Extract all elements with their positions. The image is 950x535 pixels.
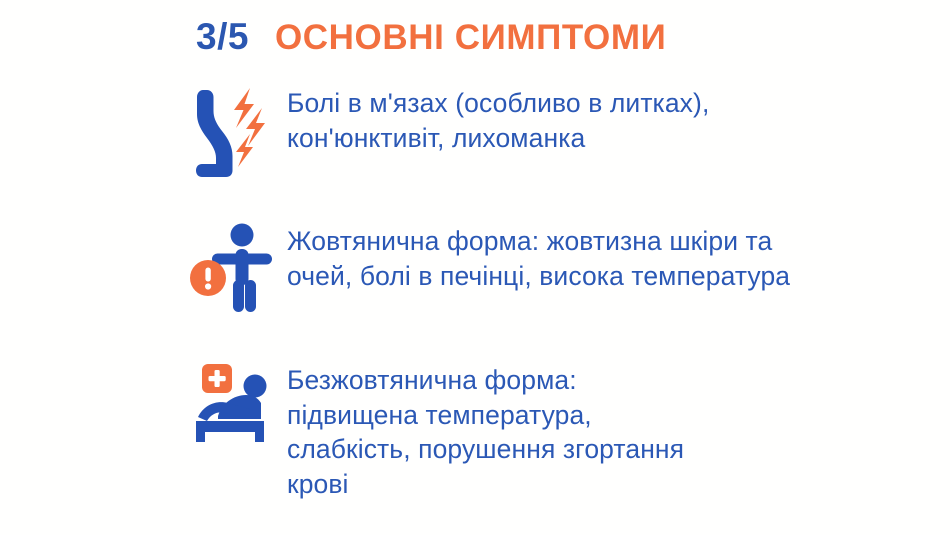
symptom-item: Безжовтянична форма: підвищена температу… — [0, 359, 950, 502]
header: 3/5 ОСНОВНІ СИМПТОМИ — [196, 18, 666, 55]
symptom-item: Болі в м'язах (особливо в литках), кон'ю… — [0, 82, 950, 184]
jaundice-person-icon — [190, 220, 287, 314]
step-counter: 3/5 — [196, 18, 249, 55]
symptom-item: Жовтянична форма: жовтизна шкіри та очей… — [0, 220, 950, 314]
leg-pain-icon — [190, 82, 287, 184]
symptom-text: Болі в м'язах (особливо в литках), кон'ю… — [287, 82, 817, 155]
symptom-text: Безжовтянична форма: підвищена температу… — [287, 359, 687, 502]
hospital-bed-icon — [190, 359, 287, 447]
page-title: ОСНОВНІ СИМПТОМИ — [275, 20, 666, 55]
symptom-list: Болі в м'язах (особливо в литках), кон'ю… — [0, 82, 950, 502]
symptom-text: Жовтянична форма: жовтизна шкіри та очей… — [287, 220, 827, 293]
slide-root: 3/5 ОСНОВНІ СИМПТОМИ Болі в м'язах (особ… — [0, 0, 950, 535]
